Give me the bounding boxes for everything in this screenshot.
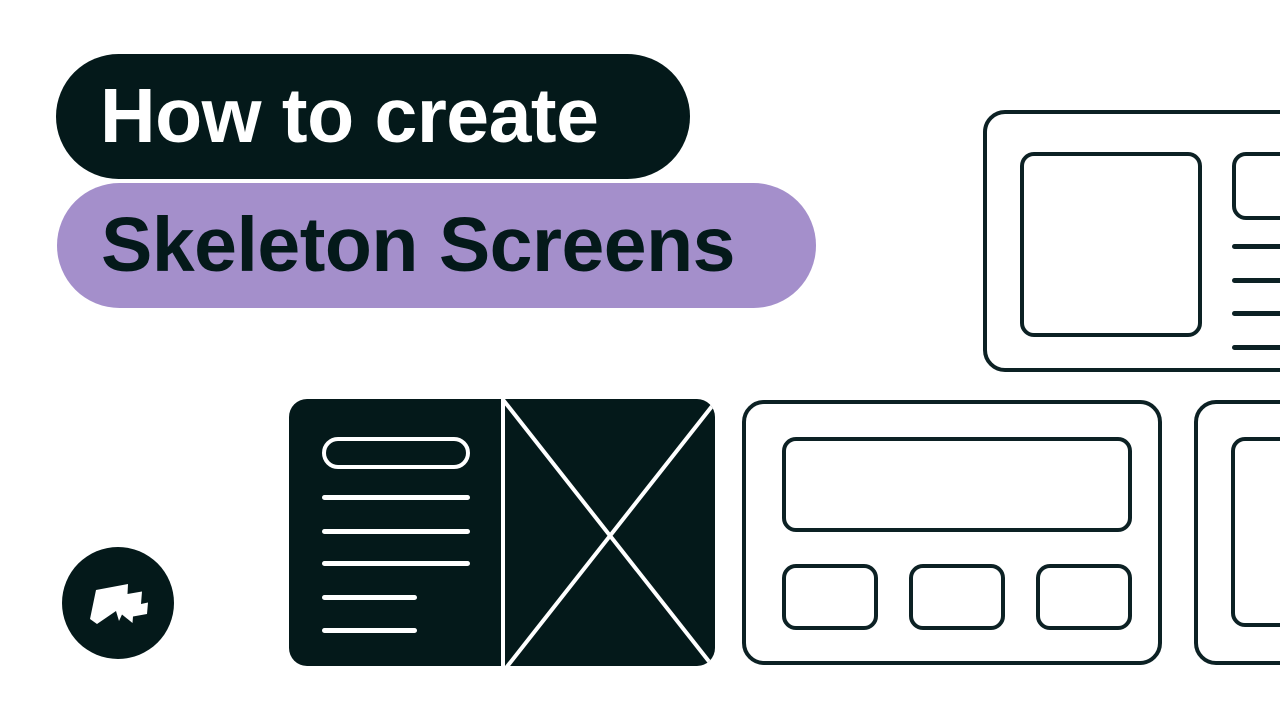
skeleton-card-dark[interactable]	[289, 399, 715, 666]
skeleton-card-top-right[interactable]	[983, 110, 1280, 372]
title-line2-text: Skeleton Screens	[101, 201, 735, 290]
text-line-4	[1232, 345, 1280, 350]
title-pill-line2: Skeleton Screens	[57, 183, 816, 308]
skeleton-card-dark-left-panel	[289, 399, 501, 666]
text-line-5	[322, 628, 417, 633]
slide-canvas: How to create Skeleton Screens	[0, 0, 1280, 720]
text-line-4	[322, 595, 417, 600]
heading-placeholder[interactable]	[1232, 152, 1280, 220]
button-placeholder-3[interactable]	[1036, 564, 1132, 630]
lightning-flag-icon	[86, 575, 150, 631]
title-line1-text: How to create	[100, 72, 598, 161]
text-line-2	[1232, 278, 1280, 283]
content-placeholder[interactable]	[1231, 437, 1280, 627]
skeleton-card-bottom-right[interactable]	[1194, 400, 1280, 665]
text-line-3	[322, 561, 470, 566]
banner-placeholder[interactable]	[782, 437, 1132, 532]
skeleton-card-bottom-mid[interactable]	[742, 400, 1162, 665]
button-placeholder-2[interactable]	[909, 564, 1005, 630]
search-field-placeholder[interactable]	[322, 437, 470, 469]
title-pill-line1: How to create	[56, 54, 690, 179]
image-placeholder-x	[505, 399, 715, 666]
brand-logo-badge[interactable]	[62, 547, 174, 659]
text-line-1	[322, 495, 470, 500]
text-line-1	[1232, 244, 1280, 249]
media-placeholder[interactable]	[1020, 152, 1202, 337]
text-line-2	[322, 529, 470, 534]
button-placeholder-1[interactable]	[782, 564, 878, 630]
text-line-3	[1232, 311, 1280, 316]
